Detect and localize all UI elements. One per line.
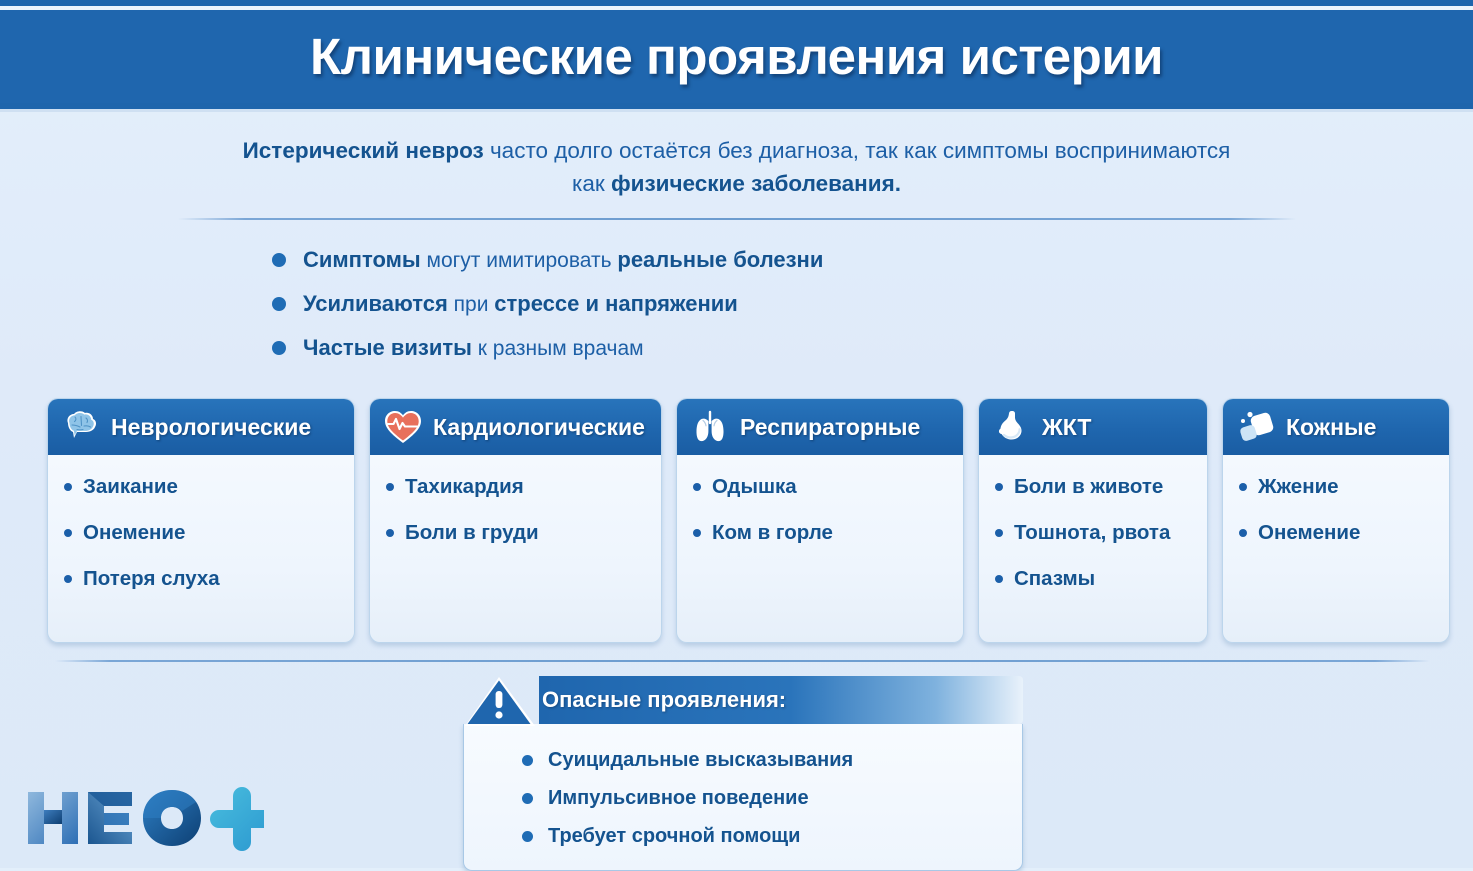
list-item: Частые визиты к разным врачам: [272, 326, 1473, 370]
card-header: ЖКТ: [979, 399, 1207, 455]
list-item: Требует срочной помощи: [464, 817, 1022, 855]
symptom-label: Ком в горле: [712, 520, 833, 545]
card-header: Кожные: [1223, 399, 1449, 455]
danger-callout-title: Опасные проявления:: [542, 687, 786, 713]
key-points-list: Симптомы могут имитировать реальные боле…: [272, 238, 1473, 370]
bullet-dot-icon: [522, 793, 533, 804]
symptom-label: Жжение: [1258, 474, 1339, 499]
list-item: Онемение: [64, 520, 340, 545]
list-item: Одышка: [693, 474, 949, 499]
list-item: Усиливаются при стрессе и напряжении: [272, 282, 1473, 326]
symptom-label: Заикание: [83, 474, 178, 499]
list-item: Спазмы: [995, 566, 1193, 591]
danger-callout-title-bar: Опасные проявления:: [539, 676, 1023, 724]
card-body: Жжение Онемение: [1223, 455, 1449, 566]
divider-below-cards: [55, 660, 1430, 662]
stomach-icon: [991, 407, 1033, 447]
bullet-dot-icon: [1239, 483, 1247, 491]
intro-line-2-emphasis: физические заболевания.: [611, 171, 901, 196]
key-point-bold-tail: стрессе и напряжении: [494, 291, 738, 316]
symptom-label: Потеря слуха: [83, 566, 220, 591]
list-item: Симптомы могут имитировать реальные боле…: [272, 238, 1473, 282]
bullet-dot-icon: [995, 575, 1003, 583]
danger-callout-body: Суицидальные высказывания Импульсивное п…: [463, 724, 1023, 871]
danger-item-label: Требует срочной помощи: [548, 825, 800, 848]
intro-lead-term: Истерический невроз: [243, 138, 484, 163]
key-point-bold: Симптомы: [303, 247, 421, 272]
danger-item-label: Суицидальные высказывания: [548, 749, 853, 772]
card-body: Заикание Онемение Потеря слуха: [48, 455, 354, 612]
list-item: Потеря слуха: [64, 566, 340, 591]
bullet-dot-icon: [693, 483, 701, 491]
card-title: ЖКТ: [1042, 414, 1091, 441]
bullet-dot-icon: [522, 755, 533, 766]
bullet-dot-icon: [995, 529, 1003, 537]
symptom-label: Боли в груди: [405, 520, 539, 545]
bullet-dot-icon: [64, 575, 72, 583]
card-neurological: Неврологические Заикание Онемение Потеря…: [47, 398, 355, 643]
symptom-label: Тахикардия: [405, 474, 524, 499]
card-title: Неврологические: [111, 414, 311, 441]
heart-ecg-icon: [382, 407, 424, 447]
page-title: Клинические проявления истерии: [310, 27, 1163, 86]
list-item: Импульсивное поведение: [464, 779, 1022, 817]
warning-triangle-icon: [463, 676, 539, 724]
bullet-dot-icon: [693, 529, 701, 537]
bullet-dot-icon: [995, 483, 1003, 491]
intro-paragraph: Истерический невроз часто долго остаётся…: [152, 134, 1322, 200]
card-body: Тахикардия Боли в груди: [370, 455, 661, 566]
brain-icon: [60, 407, 102, 447]
bullet-dot-icon: [386, 483, 394, 491]
lungs-icon: [689, 407, 731, 447]
symptom-label: Одышка: [712, 474, 797, 499]
card-title: Респираторные: [740, 414, 920, 441]
list-item: Онемение: [1239, 520, 1435, 545]
symptom-category-cards: Неврологические Заикание Онемение Потеря…: [47, 398, 1450, 643]
key-point-text: Частые визиты к разным врачам: [303, 335, 644, 361]
intro-line-2-prefix: как: [572, 171, 611, 196]
bullet-dot-icon: [1239, 529, 1247, 537]
list-item: Жжение: [1239, 474, 1435, 499]
key-point-text: Симптомы могут имитировать реальные боле…: [303, 247, 823, 273]
card-cardiological: Кардиологические Тахикардия Боли в груди: [369, 398, 662, 643]
card-gastrointestinal: ЖКТ Боли в животе Тошнота, рвота Спазмы: [978, 398, 1208, 643]
bullet-dot-icon: [272, 297, 286, 311]
bullet-dot-icon: [272, 341, 286, 355]
danger-item-label: Импульсивное поведение: [548, 787, 809, 810]
danger-callout: Опасные проявления: Суицидальные высказы…: [463, 676, 1023, 871]
key-point-bold: Частые визиты: [303, 335, 472, 360]
header-banner: Клинические проявления истерии: [0, 0, 1473, 112]
symptom-label: Боли в животе: [1014, 474, 1163, 499]
divider-above-key-points: [178, 218, 1296, 220]
list-item: Боли в животе: [995, 474, 1193, 499]
header-main: Клинические проявления истерии: [0, 10, 1473, 103]
card-header: Кардиологические: [370, 399, 661, 455]
key-point-bold-tail: реальные болезни: [617, 247, 823, 272]
card-title: Кардиологические: [433, 414, 645, 441]
key-point-regular: к разным врачам: [472, 337, 644, 360]
card-dermatological: Кожные Жжение Онемение: [1222, 398, 1450, 643]
bullet-dot-icon: [386, 529, 394, 537]
bullet-dot-icon: [64, 529, 72, 537]
danger-callout-header: Опасные проявления:: [463, 676, 1023, 724]
brand-logo: [22, 782, 264, 859]
header-bottom-band: [0, 103, 1473, 112]
key-point-bold: Усиливаются: [303, 291, 448, 316]
symptom-label: Онемение: [83, 520, 185, 545]
card-title: Кожные: [1286, 414, 1376, 441]
card-respiratory: Респираторные Одышка Ком в горле: [676, 398, 964, 643]
card-body: Одышка Ком в горле: [677, 455, 963, 566]
bullet-dot-icon: [522, 831, 533, 842]
skin-patch-icon: [1235, 407, 1277, 447]
card-header: Неврологические: [48, 399, 354, 455]
list-item: Тахикардия: [386, 474, 647, 499]
list-item: Ком в горле: [693, 520, 949, 545]
card-header: Респираторные: [677, 399, 963, 455]
card-body: Боли в животе Тошнота, рвота Спазмы: [979, 455, 1207, 612]
symptom-label: Тошнота, рвота: [1014, 520, 1170, 545]
intro-line-1: Истерический невроз часто долго остаётся…: [152, 134, 1322, 167]
list-item: Боли в груди: [386, 520, 647, 545]
neo-plus-logo-icon: [22, 782, 264, 854]
symptom-label: Онемение: [1258, 520, 1360, 545]
list-item: Заикание: [64, 474, 340, 499]
intro-line-2: как физические заболевания.: [152, 167, 1322, 200]
list-item: Тошнота, рвота: [995, 520, 1193, 545]
intro-line-1-rest: часто долго остаётся без диагноза, так к…: [484, 138, 1231, 163]
symptom-label: Спазмы: [1014, 566, 1095, 591]
bullet-dot-icon: [64, 483, 72, 491]
key-point-regular: могут имитировать: [421, 249, 618, 272]
bullet-dot-icon: [272, 253, 286, 267]
key-point-regular: при: [448, 293, 494, 316]
key-point-text: Усиливаются при стрессе и напряжении: [303, 291, 738, 317]
list-item: Суицидальные высказывания: [464, 741, 1022, 779]
